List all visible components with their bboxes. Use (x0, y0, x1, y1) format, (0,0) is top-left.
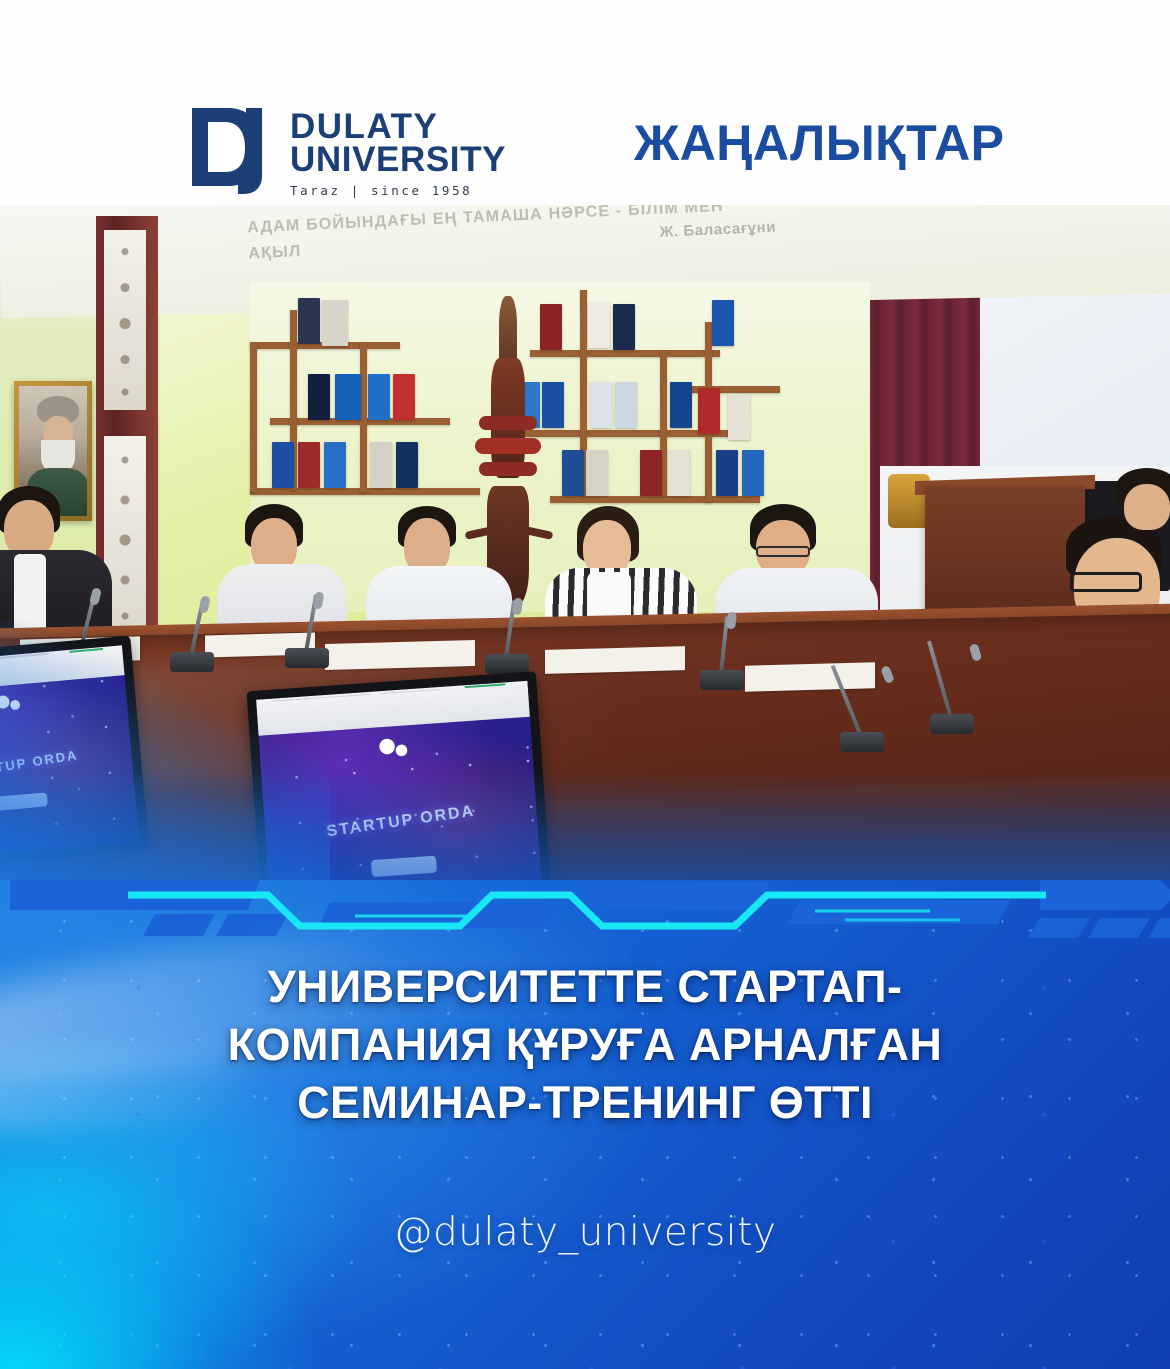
headline-line-2: КОМПАНИЯ ҚҰРУҒА АРНАЛҒАН (0, 1016, 1170, 1074)
participant-7-background (1110, 468, 1170, 558)
ornament-panel-top (104, 230, 146, 410)
paper-sheet (325, 640, 475, 670)
table-microphone (930, 638, 978, 734)
headline-block: УНИВЕРСИТЕТТЕ СТАРТАП- КОМПАНИЯ ҚҰРУҒА А… (0, 958, 1170, 1132)
table-microphone (700, 610, 744, 690)
poster-header: DULATY UNIVERSITY Taraz | since 1958 ЖАҢ… (0, 0, 1170, 205)
logo-tagline: Taraz | since 1958 (290, 183, 506, 198)
dulaty-university-logo: DULATY UNIVERSITY Taraz | since 1958 (188, 104, 506, 198)
headline-line-1: УНИВЕРСИТЕТТЕ СТАРТАП- (0, 958, 1170, 1016)
event-photograph: АДАМ БОЙЫНДАҒЫ ЕҢ ТАМАША НӘРСЕ - БІЛІМ М… (0, 186, 1170, 921)
paper-sheet (545, 646, 685, 674)
logo-wordmark: DULATY UNIVERSITY Taraz | since 1958 (290, 104, 506, 198)
table-microphone (485, 596, 529, 674)
logo-line-2: UNIVERSITY (290, 143, 506, 176)
social-handle: @dulaty_university (0, 1210, 1170, 1255)
photo-left-fade (0, 621, 330, 921)
news-poster: DULATY UNIVERSITY Taraz | since 1958 ЖАҢ… (0, 0, 1170, 1369)
news-kicker-heading: ЖАҢАЛЫҚТАР (634, 114, 1005, 172)
du-monogram-icon (188, 104, 274, 196)
headline-line-3: СЕМИНАР-ТРЕНИНГ ӨТТІ (0, 1074, 1170, 1132)
cyan-corner-glow (0, 1149, 330, 1369)
logo-line-1: DULATY (290, 110, 506, 143)
table-microphone (840, 656, 888, 752)
